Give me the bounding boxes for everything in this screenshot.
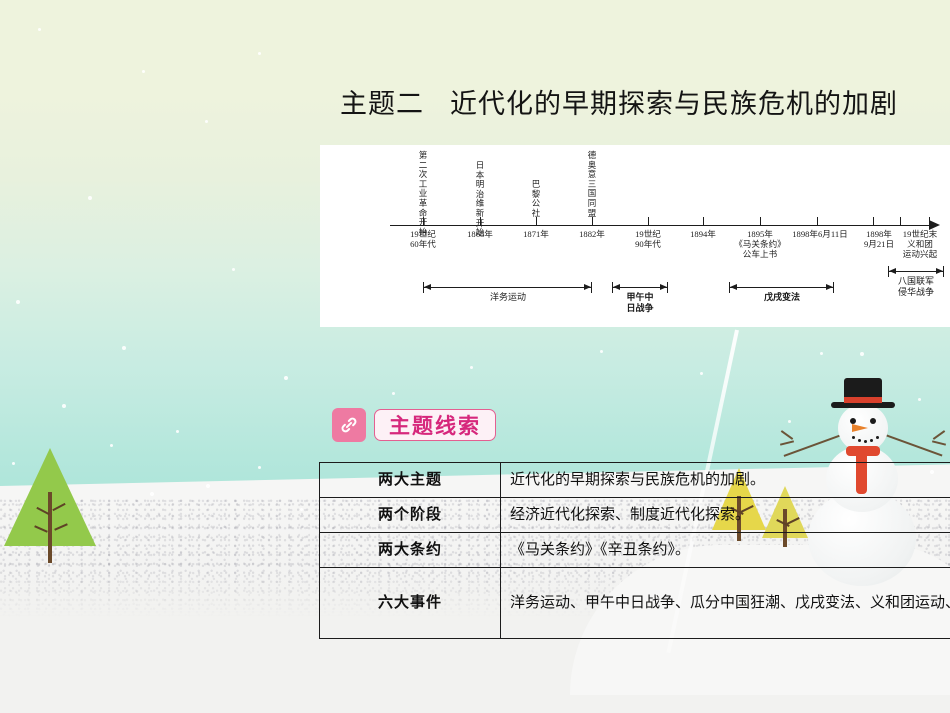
table-row-value: 经济近代化探索、制度近代化探索。	[501, 498, 950, 533]
timeline-tick	[648, 217, 649, 226]
timeline-date-label: 1882年	[579, 229, 605, 239]
table-row-key: 两大条约	[320, 533, 501, 568]
table-row: 两大条约 《马关条约》《辛丑条约》。	[320, 533, 950, 568]
title-sub: 近代化的早期探索与民族危机的加剧	[450, 89, 898, 119]
slide-canvas: 主题二近代化的早期探索与民族危机的加剧 第二次工业革命开始 日本明治维新开始 巴…	[0, 0, 950, 713]
timeline-event-label: 巴黎公社	[527, 180, 545, 218]
timeline-date-label: 1868年	[467, 229, 493, 239]
period-label: 甲午中日战争	[626, 292, 653, 313]
timeline-card: 第二次工业革命开始 日本明治维新开始 巴黎公社 德奥意三国同盟 19世纪60年代…	[320, 145, 950, 327]
period-bracket	[612, 287, 668, 288]
timeline-event-label: 德奥意三国同盟	[578, 151, 606, 218]
table-row-value: 《马关条约》《辛丑条约》。	[501, 533, 950, 568]
period-label: 八国联军侵华战争	[898, 276, 934, 297]
snowman-eye-right	[870, 418, 876, 424]
summary-table-body: 两大主题 近代化的早期探索与民族危机的加剧。 两个阶段 经济近代化探索、制度近代…	[320, 463, 950, 639]
period-bracket	[888, 271, 944, 272]
table-row: 六大事件 洋务运动、甲午中日战争、瓜分中国狂潮、戊戌变法、义和团运动、八国联军侵…	[320, 568, 950, 639]
summary-table: 两大主题 近代化的早期探索与民族危机的加剧。 两个阶段 经济近代化探索、制度近代…	[319, 462, 950, 639]
link-chain-icon	[332, 408, 366, 442]
pine-tree-large	[4, 448, 96, 598]
timeline-date-label: 1871年	[523, 229, 549, 239]
timeline-tick	[900, 217, 901, 226]
timeline-tick	[592, 217, 593, 226]
snowman-hat-band	[844, 397, 882, 403]
section-banner: 主题线索	[332, 408, 496, 442]
timeline-tick	[760, 217, 761, 226]
table-row-key: 两个阶段	[320, 498, 501, 533]
section-banner-chip: 主题线索	[374, 409, 496, 441]
period-bracket	[729, 287, 834, 288]
timeline-tick	[873, 217, 874, 226]
tree-trunk	[48, 492, 52, 563]
timeline-date-label: 19世纪60年代	[410, 229, 436, 249]
section-banner-label: 主题线索	[389, 410, 481, 440]
period-label: 戊戌变法	[764, 292, 800, 303]
table-row-value: 洋务运动、甲午中日战争、瓜分中国狂潮、戊戌变法、义和团运动、八国联军侵华战争。	[501, 568, 950, 639]
timeline-date-label: 1898年6月11日	[792, 229, 848, 239]
timeline-tick	[817, 217, 818, 226]
table-row-key: 六大事件	[320, 568, 501, 639]
carrot-nose-icon	[852, 424, 868, 432]
timeline-tick	[703, 217, 704, 226]
timeline-event-label: 第二次工业革命开始	[414, 151, 432, 237]
timeline-date-label: 1895年《马关条约》公车上书	[734, 229, 786, 259]
timeline-event-label: 日本明治维新开始	[471, 161, 489, 238]
timeline-tick	[929, 217, 930, 226]
timeline-diagram: 第二次工业革命开始 日本明治维新开始 巴黎公社 德奥意三国同盟 19世纪60年代…	[320, 145, 950, 327]
page-title: 主题二近代化的早期探索与民族危机的加剧	[340, 82, 898, 121]
table-row-key: 两大主题	[320, 463, 501, 498]
timeline-date-label: 1898年9月21日	[864, 229, 894, 249]
timeline-date-label: 1894年	[690, 229, 716, 239]
table-row: 两个阶段 经济近代化探索、制度近代化探索。	[320, 498, 950, 533]
period-label: 洋务运动	[490, 292, 526, 303]
timeline-date-label: 19世纪末义和团运动兴起	[903, 229, 937, 259]
timeline-date-label: 19世纪90年代	[635, 229, 661, 249]
title-main: 主题二	[340, 89, 424, 119]
period-bracket	[423, 287, 592, 288]
snowman-scarf	[846, 446, 880, 456]
table-row: 两大主题 近代化的早期探索与民族危机的加剧。	[320, 463, 950, 498]
table-row-value: 近代化的早期探索与民族危机的加剧。	[501, 463, 950, 498]
